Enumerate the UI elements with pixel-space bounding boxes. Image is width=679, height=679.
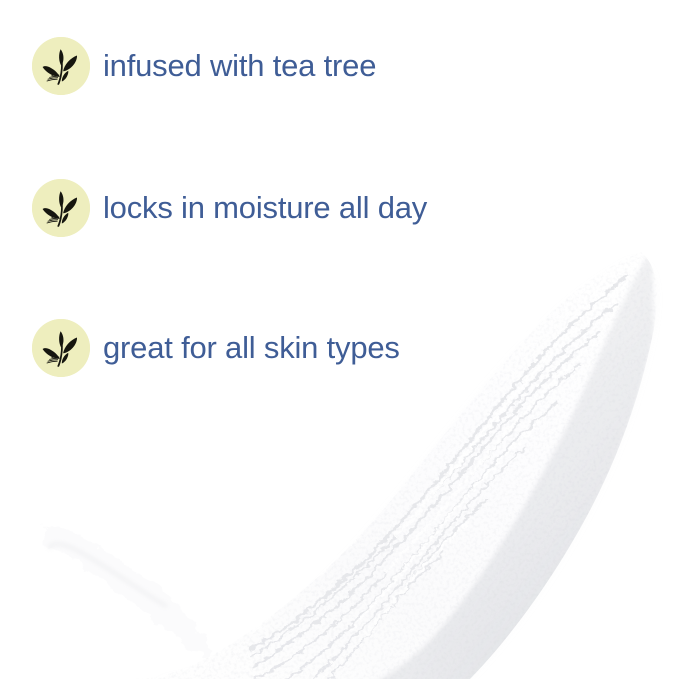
- benefit-label: infused with tea tree: [103, 37, 376, 95]
- tea-leaf-icon: [32, 37, 90, 95]
- benefit-label: locks in moisture all day: [103, 179, 427, 237]
- tea-leaf-icon: [32, 179, 90, 237]
- benefit-item-great-for-all-skin-types: great for all skin types: [32, 319, 400, 377]
- benefit-item-infused-with-tea-tree: infused with tea tree: [32, 37, 376, 95]
- benefit-label: great for all skin types: [103, 319, 400, 377]
- product-benefits-page: infused with tea tree: [0, 0, 679, 679]
- benefit-item-locks-in-moisture-all-day: locks in moisture all day: [32, 179, 427, 237]
- benefit-list: infused with tea tree: [0, 0, 679, 679]
- tea-leaf-icon: [32, 319, 90, 377]
